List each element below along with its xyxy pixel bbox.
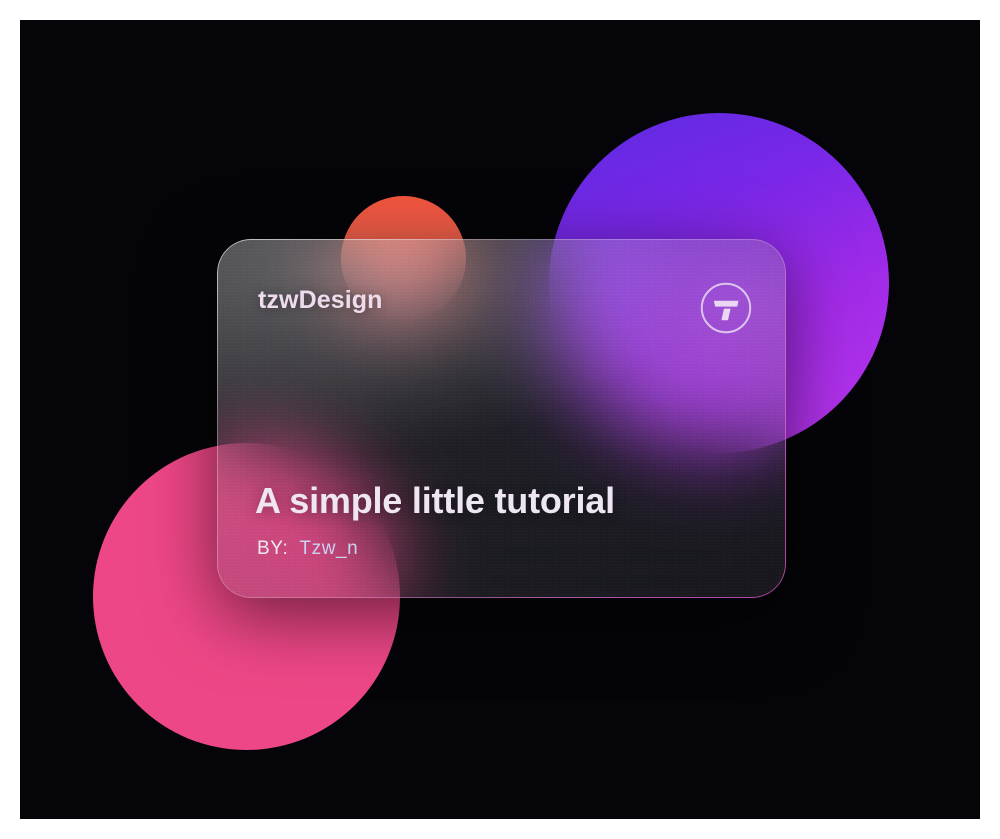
card-byline: BY:Tzw_n (257, 538, 358, 560)
card-content: tzwDesign A simple little tutorial BY:Tz… (217, 239, 786, 598)
byline-author: Tzw_n (299, 538, 358, 559)
brand-name: tzwDesign (258, 286, 383, 315)
card-title: A simple little tutorial (255, 480, 615, 522)
byline-label: BY: (257, 538, 288, 559)
artboard-canvas: tzwDesign A simple little tutorial BY:Tz… (20, 20, 980, 819)
glass-card[interactable]: tzwDesign A simple little tutorial BY:Tz… (217, 239, 786, 598)
tzw-t-monogram-icon (699, 281, 753, 335)
